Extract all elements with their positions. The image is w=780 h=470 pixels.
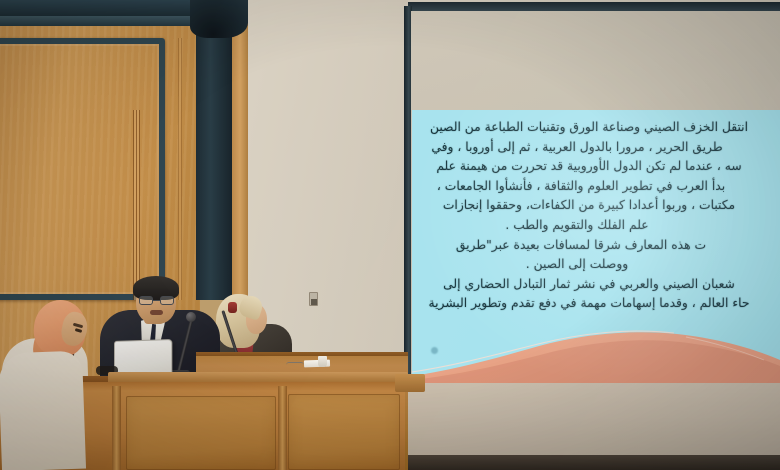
slide-line: ووصلت إلى الصين . [412, 255, 776, 275]
desk-front-panel-1 [126, 396, 276, 470]
slide-line: حاء العالم ، وقدما إسهامات مهمة في دفع ت… [412, 294, 776, 314]
pilaster-capital [190, 0, 248, 38]
desk-corner-cap [395, 374, 425, 392]
slide-line: مكتبات ، وربوا أعدادا كبيرة من الكفاءات،… [412, 196, 776, 216]
glasses-lens-right [160, 296, 174, 305]
column-wood-edge [232, 0, 248, 300]
slide-text-block: انتقل الخزف الصيني وصناعة الورق وتقنيات … [412, 118, 776, 314]
slide-line: ت هذه المعارف شرقا لمسافات بعيدة عبر"طري… [412, 236, 776, 256]
eyeglasses-icon [139, 296, 174, 305]
slide-line: سه ، عندما لم تكن الدول الأوروبية قد تحر… [412, 157, 776, 177]
hijab-woman-foreground-body [0, 351, 86, 470]
man-mouth [150, 310, 163, 315]
slide-footer [424, 347, 452, 354]
low-partition-wall [408, 383, 780, 459]
slide-line: شعبان الصيني والعربي في نشر ثمار التبادل… [412, 275, 776, 295]
sand-dune-graphic [412, 318, 780, 388]
eyeglasses-on-desk [286, 362, 304, 368]
wall-socket-icon [309, 292, 318, 306]
desk-cup [318, 356, 327, 367]
slide-line: بدأ العرب في تطوير العلوم والثقافة ، فأن… [412, 177, 776, 197]
wall-trim-upper [0, 0, 210, 16]
wall-panel-frame-1 [0, 38, 165, 300]
desk-pilaster-left [112, 386, 121, 470]
wall-panel-fluting [133, 110, 140, 300]
slide-line: طريق الحرير ، مرورا بالدول العربية ، ثم … [412, 138, 776, 158]
screenshot-scene: انتقل الخزف الصيني وصناعة الورق وتقنيات … [0, 0, 780, 470]
projection-screen: انتقل الخزف الصيني وصناعة الورق وتقنيات … [402, 2, 780, 390]
microphone-right-head [228, 302, 237, 313]
slide-footer-logo-icon [431, 347, 438, 354]
floor-shadow-band [408, 455, 780, 470]
wall-trim-lower [0, 16, 196, 26]
glasses-bridge [153, 300, 160, 301]
desk-front-panel-2 [288, 394, 400, 470]
slide-line: انتقل الخزف الصيني وصناعة الورق وتقنيات … [412, 118, 776, 138]
glasses-lens-left [139, 296, 153, 305]
slide-line: علم الفلك والتقويم والطب . [412, 216, 776, 236]
wall-panel-fluting-edge [178, 38, 182, 300]
microphone-center-head [186, 312, 196, 322]
screen-top-casing [408, 2, 780, 11]
desk-pilaster-center [278, 386, 287, 470]
projected-slide: انتقل الخزف الصيني وصناعة الورق وتقنيات … [412, 110, 780, 388]
dark-pilaster-column [196, 0, 232, 300]
